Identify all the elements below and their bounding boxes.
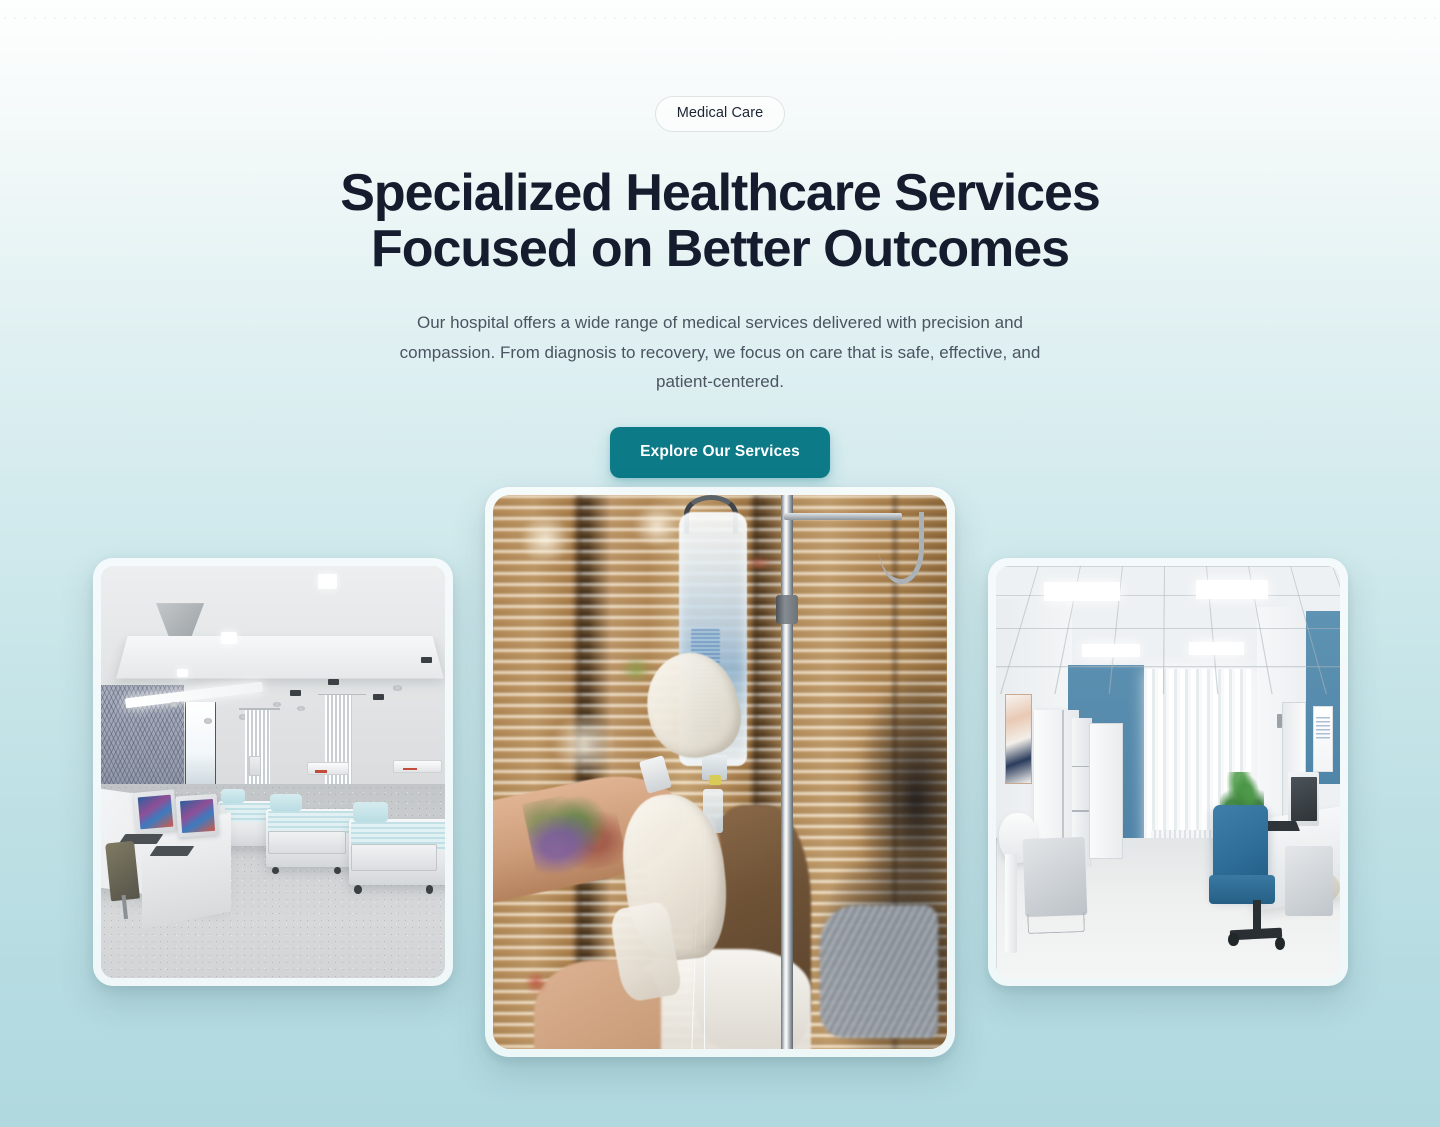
headline-line-2: Focused on Better Outcomes: [0, 221, 1440, 277]
iv-drip-photo: [493, 495, 947, 1049]
gallery-image-card-center[interactable]: [485, 487, 955, 1057]
cta-container: Explore Our Services: [0, 427, 1440, 478]
landing-page: Medical Care Specialized Healthcare Serv…: [0, 0, 1440, 1127]
ward-photo: [101, 566, 445, 978]
hero-subtitle: Our hospital offers a wide range of medi…: [384, 308, 1056, 396]
consultation-room-photo: [996, 566, 1340, 978]
consultation-room-illustration: [996, 566, 1340, 978]
gallery-image-card-left[interactable]: [93, 558, 453, 986]
medical-care-badge[interactable]: Medical Care: [655, 96, 786, 132]
headline-line-1: Specialized Healthcare Services: [340, 164, 1099, 222]
hospital-ward-illustration: [101, 566, 445, 978]
iv-drip-illustration: [493, 495, 947, 1049]
page-title: Specialized Healthcare Services Focused …: [0, 165, 1440, 278]
explore-services-button[interactable]: Explore Our Services: [610, 427, 830, 478]
gallery-image-card-right[interactable]: [988, 558, 1348, 986]
hero-section: Medical Care Specialized Healthcare Serv…: [0, 0, 1440, 478]
